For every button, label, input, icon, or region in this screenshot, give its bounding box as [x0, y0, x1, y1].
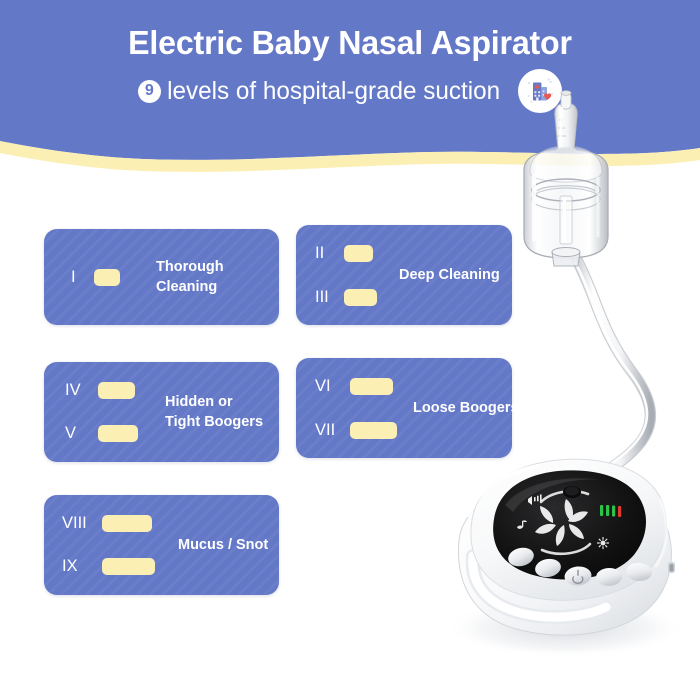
level-row: II [315, 245, 377, 262]
label-line: Cleaning [156, 277, 266, 297]
level-row: V [65, 425, 138, 442]
level-bar [94, 269, 120, 286]
level-bar [344, 289, 377, 306]
level-numeral: VI [315, 378, 341, 395]
suction-level-cards: I Thorough Cleaning II III [0, 0, 700, 700]
label-line: Thorough [156, 257, 266, 277]
infographic-page: Electric Baby Nasal Aspirator 9 levels o… [0, 0, 700, 700]
level-numeral: V [65, 425, 89, 442]
level-numeral: IV [65, 382, 89, 399]
label-line: Deep Cleaning [399, 265, 519, 285]
level-card-label: Thorough Cleaning [156, 257, 266, 297]
level-card-label: Mucus / Snot [178, 535, 298, 555]
label-line: Loose Boogers [413, 398, 533, 418]
level-card-thorough-cleaning[interactable]: I Thorough Cleaning [44, 229, 279, 325]
level-bar [98, 425, 138, 442]
level-numeral: IX [62, 558, 93, 575]
level-numeral: II [315, 245, 335, 262]
level-row: IX [62, 558, 155, 575]
level-card-label: Deep Cleaning [399, 265, 519, 285]
level-card-label: Loose Boogers [413, 398, 533, 418]
level-list: I [71, 269, 120, 286]
level-list: VIII IX [62, 515, 155, 575]
level-card-loose-boogers[interactable]: VI VII Loose Boogers [296, 358, 512, 458]
level-numeral: III [315, 289, 335, 306]
level-row: III [315, 289, 377, 306]
level-numeral: VIII [62, 515, 93, 532]
level-numeral: VII [315, 422, 341, 439]
level-bar [102, 515, 152, 532]
level-list: II III [315, 245, 377, 306]
level-bar [350, 378, 393, 395]
label-line: Mucus / Snot [178, 535, 298, 555]
level-card-label: Hidden or Tight Boogers [165, 392, 285, 432]
level-list: IV V [65, 382, 138, 442]
level-list: VI VII [315, 378, 397, 439]
level-row: IV [65, 382, 138, 399]
level-row: VI [315, 378, 397, 395]
level-card-hidden-tight-boogers[interactable]: IV V Hidden or Tight Boogers [44, 362, 279, 462]
level-card-mucus-snot[interactable]: VIII IX Mucus / Snot [44, 495, 279, 595]
level-numeral: I [71, 269, 85, 286]
level-row: I [71, 269, 120, 286]
level-bar [350, 422, 397, 439]
label-line: Tight Boogers [165, 412, 285, 432]
level-bar [344, 245, 373, 262]
level-bar [98, 382, 135, 399]
level-row: VIII [62, 515, 155, 532]
level-bar [102, 558, 155, 575]
label-line: Hidden or [165, 392, 285, 412]
level-card-deep-cleaning[interactable]: II III Deep Cleaning [296, 225, 512, 325]
level-row: VII [315, 422, 397, 439]
